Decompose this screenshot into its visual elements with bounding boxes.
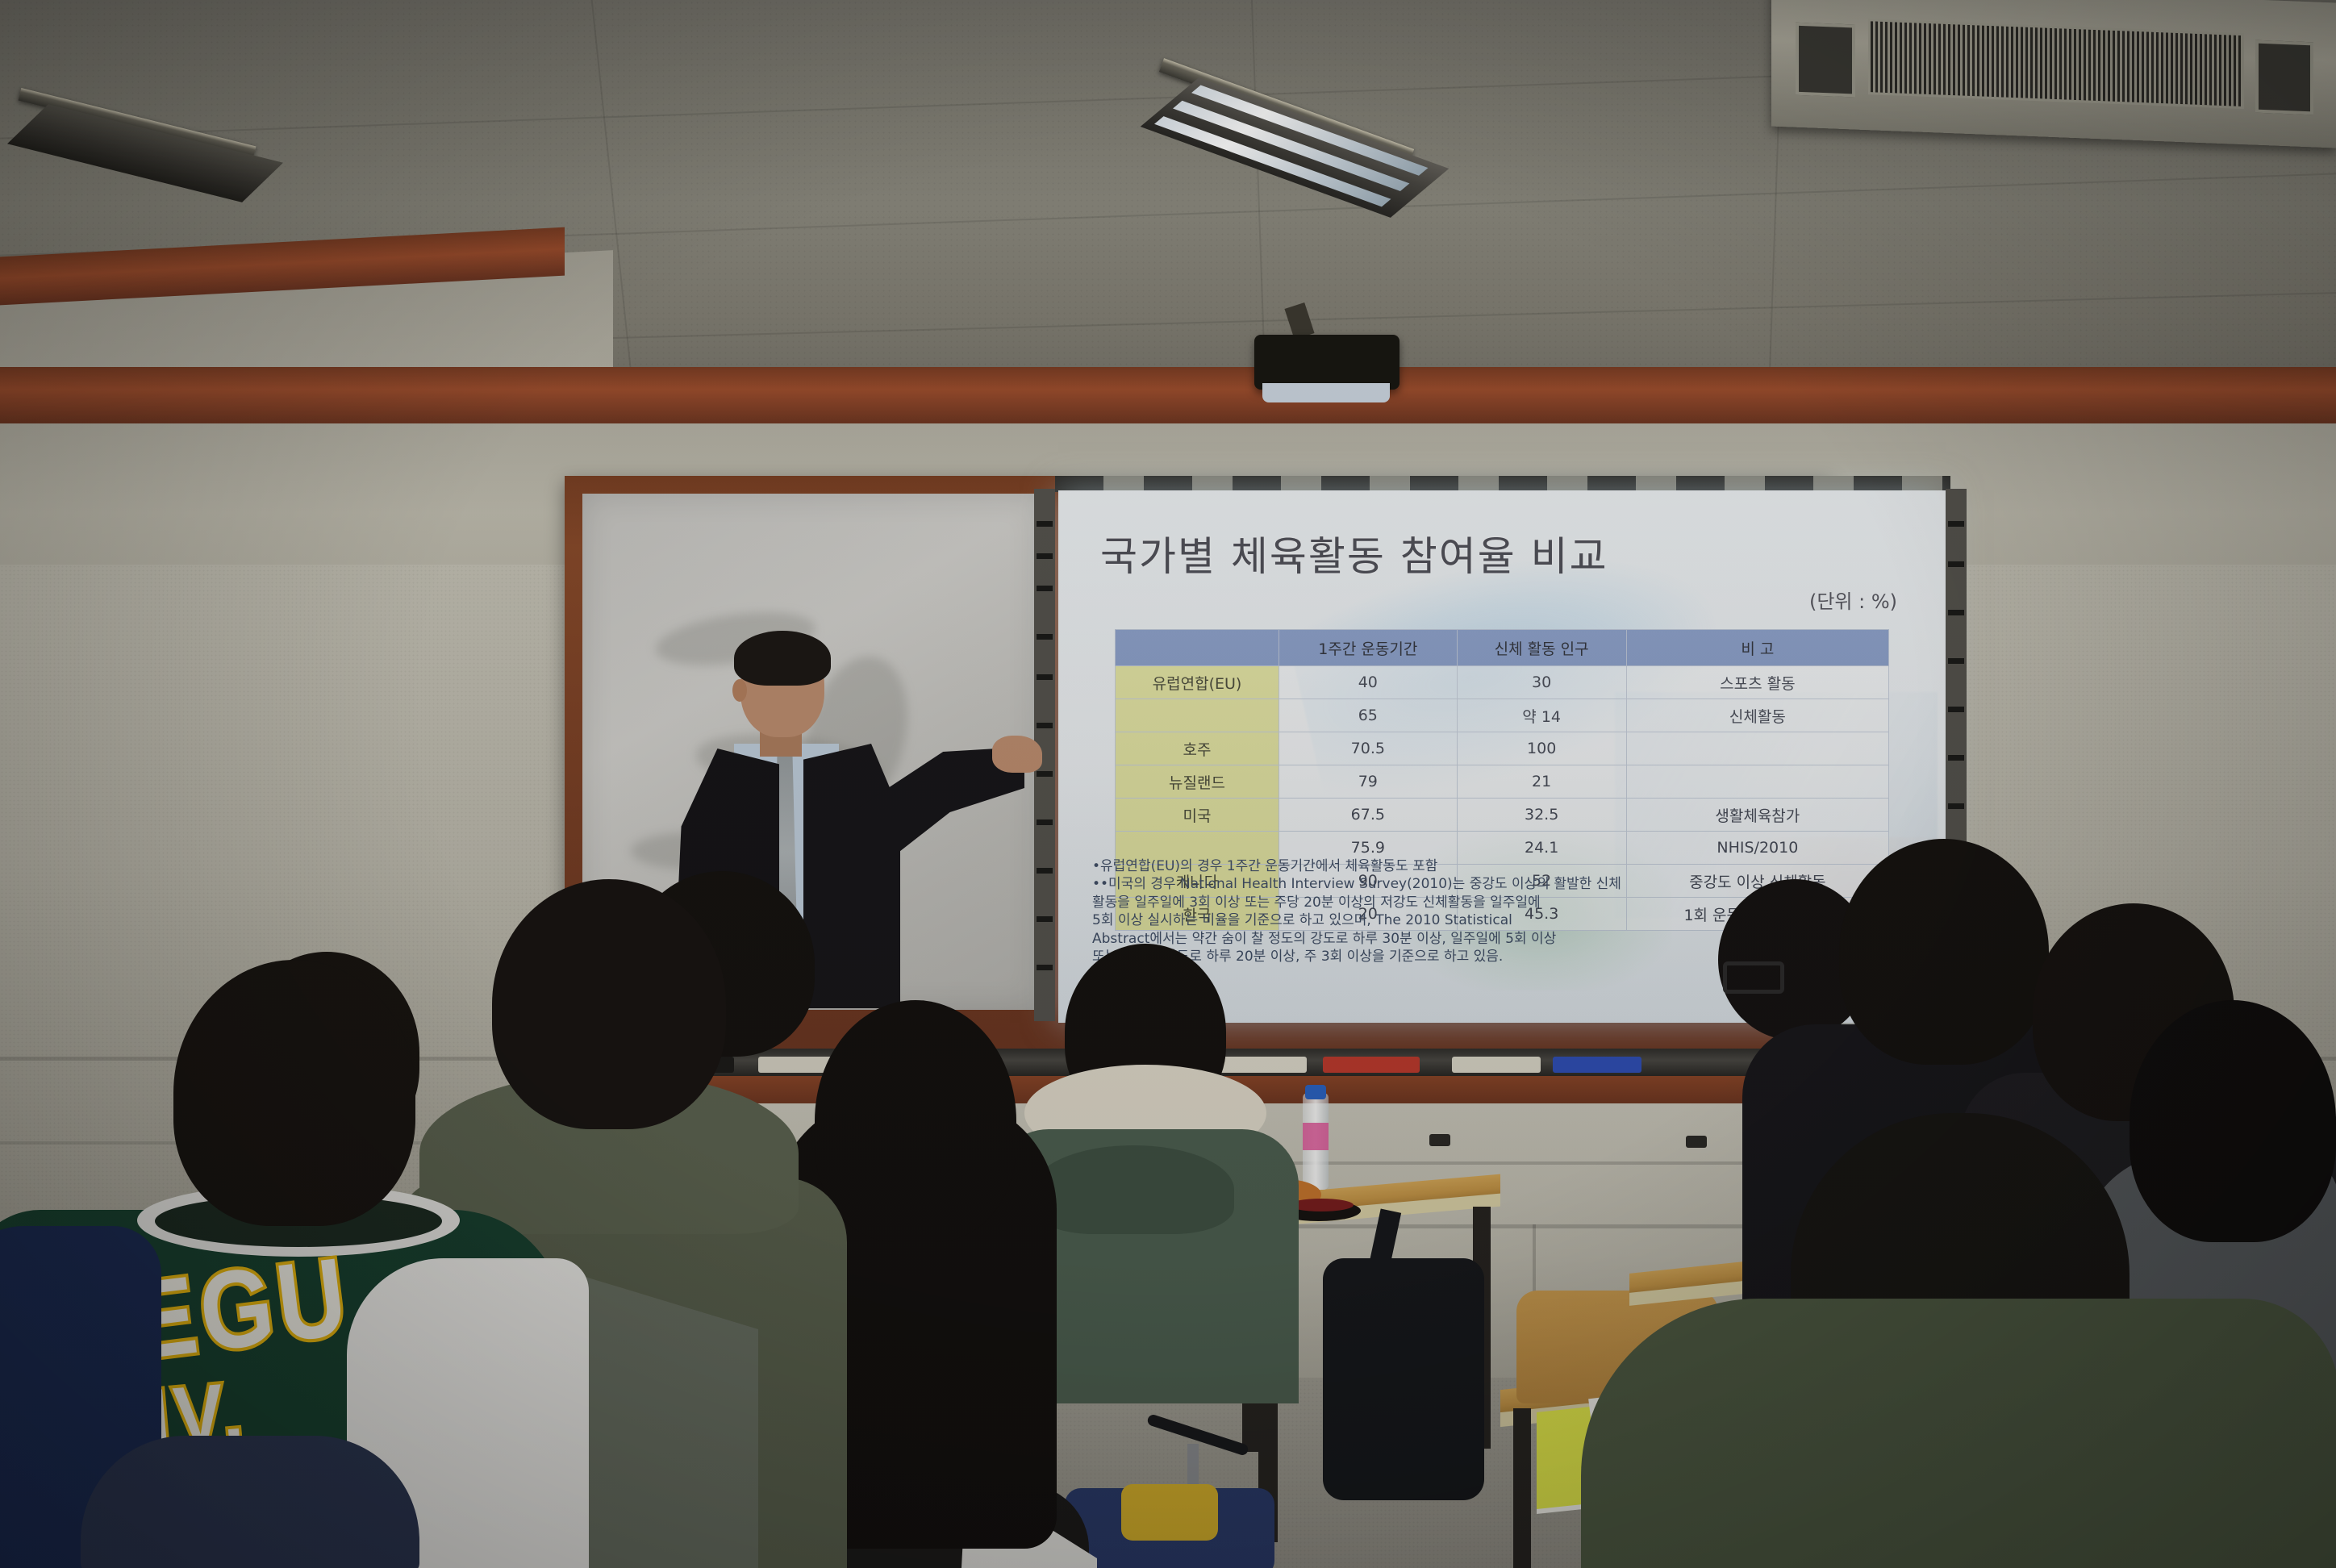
air-vent-left [1796, 23, 1855, 98]
cell-population: 100 [1457, 732, 1626, 765]
table-row: 65 약 14 신체활동 [1116, 699, 1889, 732]
eyeglasses [1723, 961, 1784, 994]
projector-lens-panel [1262, 383, 1390, 402]
ceiling-projector [1254, 335, 1400, 390]
slide-title: 국가별 체육활동 참여율 비교 [1100, 524, 1608, 582]
tray-marker-red[interactable] [1323, 1057, 1420, 1073]
table-header-cell: 비 고 [1626, 630, 1888, 666]
backpack[interactable] [1323, 1258, 1484, 1500]
cell-population: 32.5 [1457, 799, 1626, 832]
cell-note: 생활체육참가 [1626, 799, 1888, 832]
table-header-row: 1주간 운동기간 신체 활동 인구 비 고 [1116, 630, 1889, 666]
screen-header-strip [1055, 476, 1950, 492]
air-conditioner-unit [1771, 0, 2336, 148]
cell-weekly: 65 [1279, 699, 1458, 732]
cell-population: 약 14 [1457, 699, 1626, 732]
cell-weekly: 79 [1279, 765, 1458, 799]
table-row: 뉴질랜드 79 21 [1116, 765, 1889, 799]
cabinet-knob[interactable] [1429, 1134, 1450, 1146]
student-head [1839, 839, 2049, 1065]
table-row: 호주 70.5 100 [1116, 732, 1889, 765]
air-conditioner-grille [1868, 19, 2244, 109]
cell-weekly: 67.5 [1279, 799, 1458, 832]
table-header-cell: 1주간 운동기간 [1279, 630, 1458, 666]
table-header-cell: 신체 활동 인구 [1457, 630, 1626, 666]
table-header-cell [1116, 630, 1279, 666]
student-head [173, 960, 415, 1226]
lecturer-hair [734, 631, 831, 686]
slide-unit-note: (단위 : %) [1809, 586, 1897, 614]
lecturer-pointing-hand [992, 736, 1042, 773]
floor-bag-accent [1121, 1484, 1218, 1541]
cell-note [1626, 732, 1888, 765]
water-bottle-cap [1305, 1085, 1326, 1099]
table-row: 유럽연합(EU) 40 30 스포츠 활동 [1116, 666, 1889, 699]
classroom-photo: 국가별 체육활동 참여율 비교 (단위 : %) 1주간 운동기간 신체 활동 … [0, 0, 2336, 1568]
tray-eraser[interactable] [1452, 1057, 1541, 1073]
cell-country [1116, 699, 1279, 732]
cell-population: 30 [1457, 666, 1626, 699]
cell-country: 미국 [1116, 799, 1279, 832]
cell-note [1626, 765, 1888, 799]
water-bottle-label [1303, 1123, 1329, 1150]
cell-weekly: 70.5 [1279, 732, 1458, 765]
cell-weekly: 40 [1279, 666, 1458, 699]
cell-country: 유럽연합(EU) [1116, 666, 1279, 699]
wall-accent-band [0, 367, 2336, 423]
cell-note: 신체활동 [1626, 699, 1888, 732]
red-lid[interactable] [1289, 1199, 1354, 1211]
cell-country: 뉴질랜드 [1116, 765, 1279, 799]
cell-note: 스포츠 활동 [1626, 666, 1888, 699]
cell-population: 21 [1457, 765, 1626, 799]
cap-on-desk[interactable] [81, 1436, 419, 1568]
cabinet-knob[interactable] [1686, 1136, 1707, 1148]
cell-country: 호주 [1116, 732, 1279, 765]
slide-footnote-line: •유럽연합(EU)의 경우 1주간 운동기간에서 체육활동도 포함 [1092, 857, 1907, 875]
air-vent-right [2255, 40, 2313, 115]
tray-marker-blue[interactable] [1553, 1057, 1641, 1073]
student-head [2130, 1000, 2336, 1242]
table-row: 미국 67.5 32.5 생활체육참가 [1116, 799, 1889, 832]
lecturer-ear [732, 679, 747, 702]
student-olive-coat-right [1581, 1299, 2336, 1568]
